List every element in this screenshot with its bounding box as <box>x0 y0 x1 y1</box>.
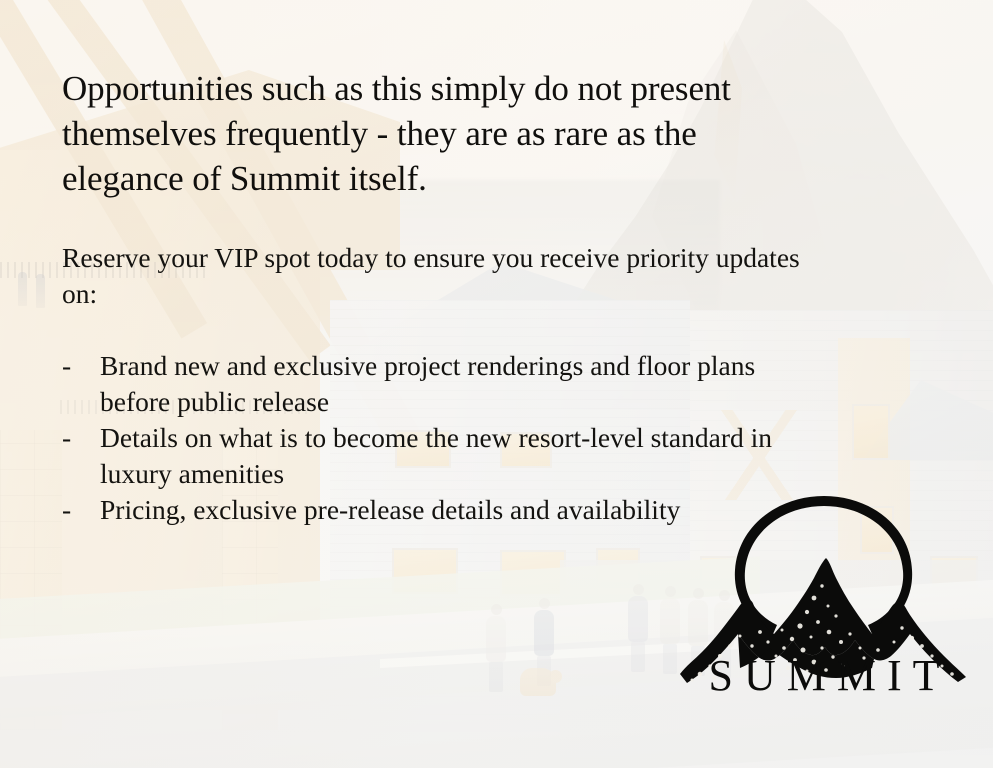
bullet-dash-icon: - <box>62 348 100 384</box>
bullet-dash-icon: - <box>62 420 100 456</box>
summit-wordmark: SUMMIT <box>664 650 984 701</box>
promotional-slide: Opportunities such as this simply do not… <box>0 0 993 768</box>
subheadline: Reserve your VIP spot today to ensure yo… <box>62 240 822 312</box>
bullet-dash-icon: - <box>62 492 100 528</box>
list-item-label: Brand new and exclusive project renderin… <box>100 348 822 420</box>
slide-content: Opportunities such as this simply do not… <box>0 0 993 768</box>
headline: Opportunities such as this simply do not… <box>62 66 822 201</box>
list-item: - Brand new and exclusive project render… <box>62 348 822 420</box>
